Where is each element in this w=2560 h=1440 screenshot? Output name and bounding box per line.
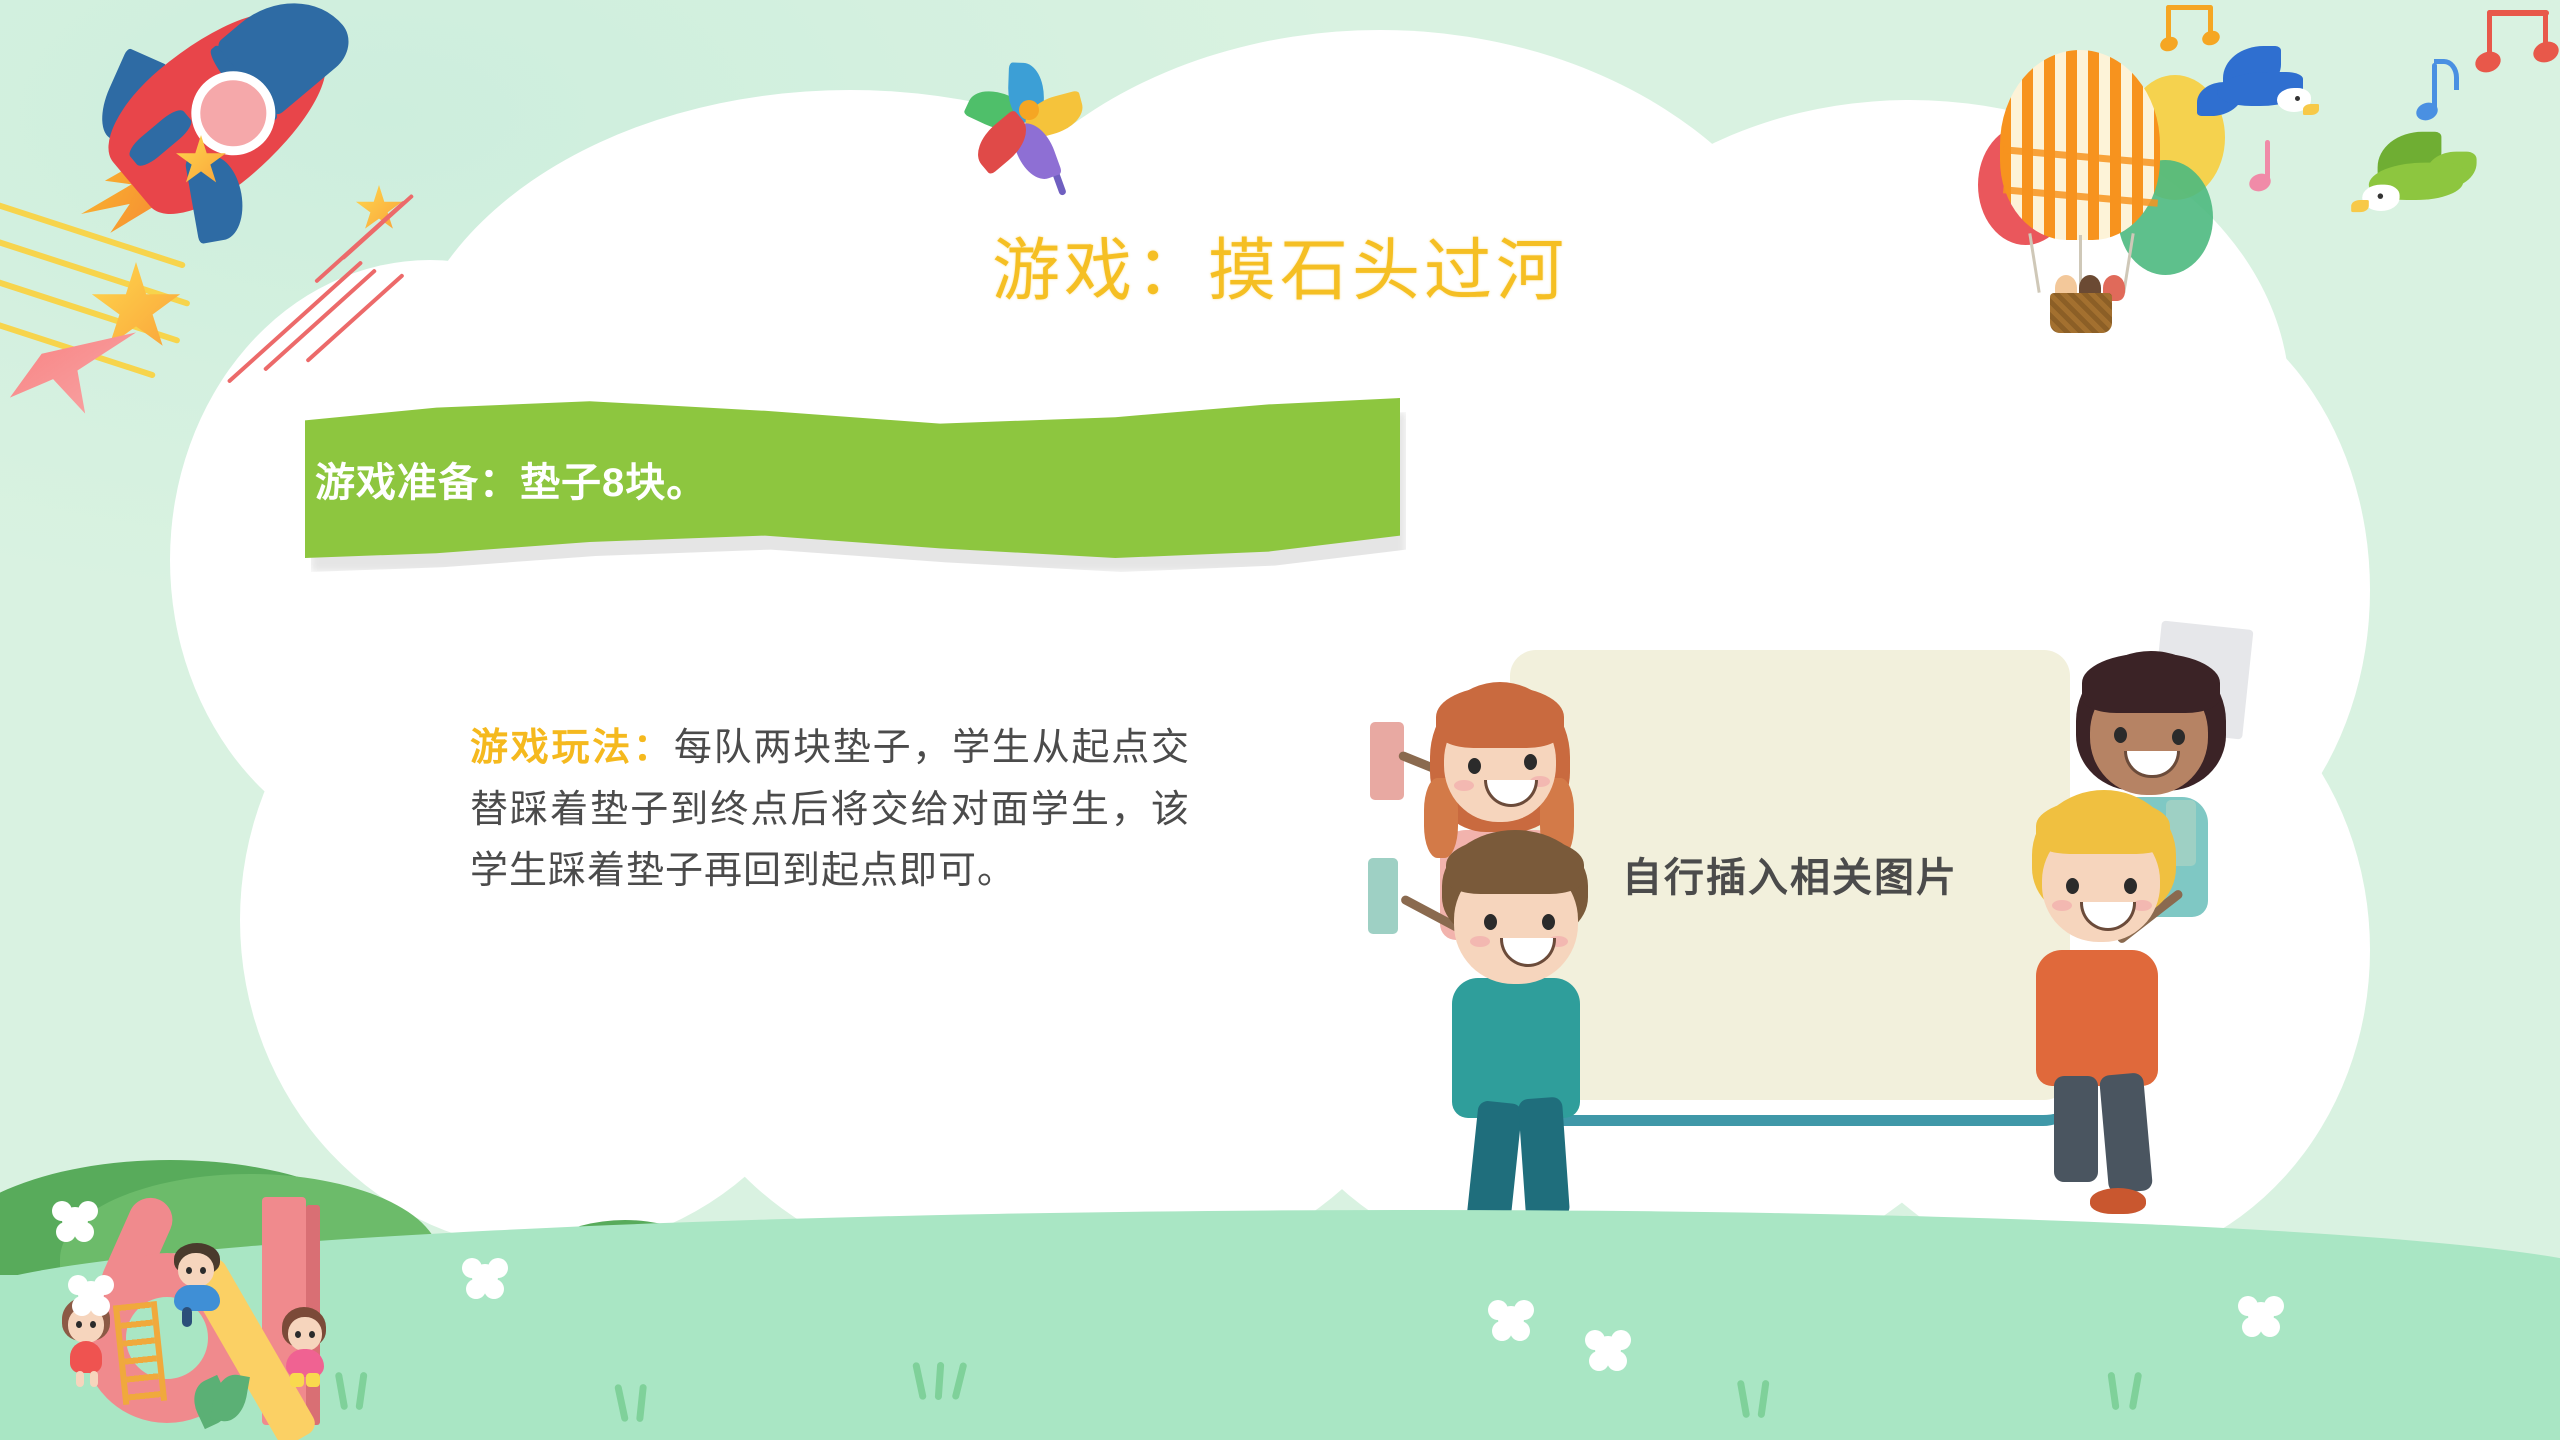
- boy-blond-eye-right: [2124, 878, 2137, 894]
- gameplay-label: 游戏玩法：: [470, 727, 674, 769]
- flower-icon-4: [2248, 1302, 2274, 1328]
- boy-blond-fringe: [2036, 798, 2170, 854]
- logo-61: [40, 1185, 370, 1440]
- boy-teal-eye-right: [1542, 914, 1555, 930]
- slide-canvas: 游戏：摸石头过河 游戏准备：垫子8块。 游戏玩法：每队两块垫子，学生从起点交替踩…: [0, 0, 2560, 1440]
- game-preparation-ribbon: 游戏准备：垫子8块。: [305, 398, 1400, 563]
- pinwheel-hub: [1019, 100, 1039, 120]
- boy-blond-eye-left: [2066, 878, 2079, 894]
- girl-fringe: [1436, 686, 1564, 748]
- boy-teal-eye-left: [1484, 914, 1497, 930]
- flower-icon-1: [472, 1264, 498, 1290]
- girl-cheek-left: [1454, 780, 1474, 791]
- blue-eighth-note-icon: [2410, 55, 2460, 125]
- flower-icon-3: [1595, 1336, 1621, 1362]
- boy-teal-fringe: [1446, 836, 1584, 894]
- pink-note-icon: [2247, 140, 2287, 200]
- boy-blond-leg-right: [2099, 1072, 2153, 1193]
- boy-teal-cup: [1368, 858, 1398, 934]
- girl-eye-right: [1524, 754, 1537, 770]
- ground-base: [0, 1275, 2560, 1440]
- ground-area: [0, 1180, 2560, 1440]
- boy-blond-cheek-left: [2052, 900, 2072, 911]
- boy-teal-cheek-left: [1470, 936, 1490, 947]
- boy-flag-fringe: [2082, 653, 2220, 713]
- girl-eye-left: [1468, 758, 1481, 774]
- orange-note-icon: [2160, 5, 2220, 60]
- logo-kid-girl-left: [58, 1297, 118, 1387]
- boy-teal-torso: [1452, 978, 1580, 1118]
- plant-icon: [190, 1370, 260, 1430]
- logo-flower-1: [62, 1207, 88, 1233]
- boy-flag-eye-left: [2114, 727, 2127, 743]
- red-double-note-icon: [2475, 10, 2555, 80]
- gameplay-description: 游戏玩法：每队两块垫子，学生从起点交替踩着垫子到终点后将交给对面学生，该学生踩着…: [470, 718, 1190, 903]
- flower-icon-2: [1498, 1306, 1524, 1332]
- logo-kid-boy-slide: [168, 1243, 234, 1327]
- logo-kid-girl-right: [276, 1307, 338, 1399]
- boy-flag-eye-right: [2172, 729, 2185, 745]
- page-title: 游戏：摸石头过河: [0, 215, 2560, 314]
- ribbon-text: 游戏准备：垫子8块。: [315, 450, 707, 508]
- kid-boy-teal: [1390, 830, 1640, 1230]
- boy-blond-leg-left: [2054, 1076, 2098, 1182]
- balloon-envelope: [2000, 50, 2160, 240]
- logo-flower-2: [78, 1281, 104, 1307]
- pinwheel-icon: [965, 45, 1115, 205]
- boy-blond-torso: [2036, 950, 2158, 1086]
- kid-boy-blond: [2032, 790, 2272, 1220]
- girl-cup: [1370, 722, 1404, 800]
